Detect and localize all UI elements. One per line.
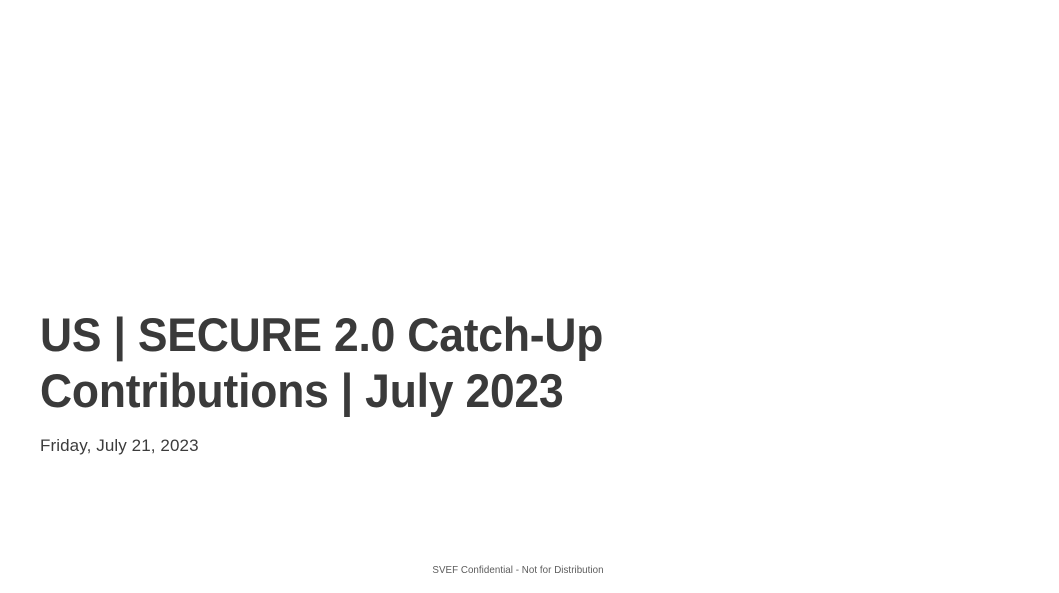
slide-canvas: US | SECURE 2.0 Catch-Up Contributions |… bbox=[0, 0, 1059, 593]
page-title: US | SECURE 2.0 Catch-Up Contributions |… bbox=[40, 307, 683, 419]
title-block: US | SECURE 2.0 Catch-Up Contributions |… bbox=[40, 307, 720, 457]
confidentiality-footer: SVEF Confidential - Not for Distribution bbox=[0, 563, 1036, 577]
slide-subtitle-date: Friday, July 21, 2023 bbox=[40, 419, 720, 457]
